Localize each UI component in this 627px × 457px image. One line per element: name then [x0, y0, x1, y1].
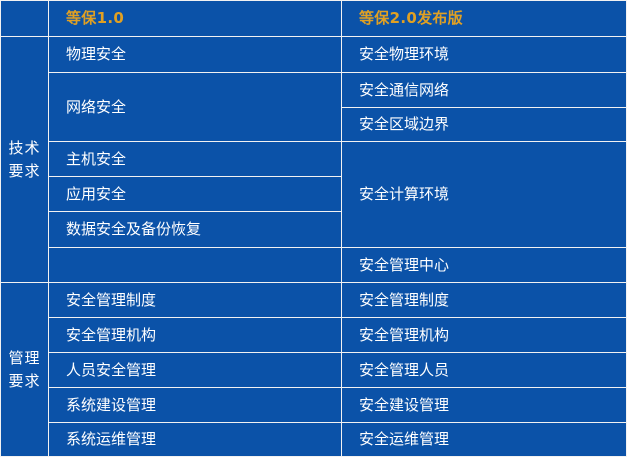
left-item-system-ops-mgmt: 系统运维管理 [49, 423, 342, 457]
right-item-security-management-center-label: 安全管理中心 [359, 255, 449, 275]
comparison-table: 等保1.0 等保2.0发布版 技术 要求 物理安全 网络安全 主机安全 应用安全… [0, 0, 627, 457]
right-item-secure-computing-environment: 安全计算环境 [342, 142, 627, 248]
left-item-system-ops-mgmt-label: 系统运维管理 [66, 429, 156, 449]
right-item-secure-computing-environment-label: 安全计算环境 [359, 184, 449, 204]
right-item-security-mgmt-system: 安全管理制度 [342, 283, 627, 318]
right-item-security-mgmt-organization: 安全管理机构 [342, 318, 627, 353]
column-header-dengbao-2-label: 等保2.0发布版 [359, 8, 463, 28]
right-item-secure-communication-network-label: 安全通信网络 [359, 80, 449, 100]
right-item-secure-physical-environment: 安全物理环境 [342, 37, 627, 73]
section-label-management-line1: 管理 [8, 347, 40, 370]
table-corner-cell [0, 0, 49, 37]
column-header-dengbao-1-label: 等保1.0 [66, 8, 124, 28]
section-label-management: 管理 要求 [0, 283, 49, 457]
left-item-placeholder-empty [49, 248, 342, 283]
left-item-security-mgmt-organization-label: 安全管理机构 [66, 325, 156, 345]
left-item-security-mgmt-organization: 安全管理机构 [49, 318, 342, 353]
left-item-physical-security-label: 物理安全 [66, 44, 126, 64]
left-item-personnel-security-mgmt-label: 人员安全管理 [66, 360, 156, 380]
left-item-data-security-backup-label: 数据安全及备份恢复 [66, 219, 201, 239]
right-item-security-mgmt-organization-label: 安全管理机构 [359, 325, 449, 345]
column-header-dengbao-1: 等保1.0 [49, 0, 342, 37]
right-item-security-mgmt-system-label: 安全管理制度 [359, 290, 449, 310]
right-item-security-construction-mgmt: 安全建设管理 [342, 388, 627, 423]
left-item-personnel-security-mgmt: 人员安全管理 [49, 353, 342, 388]
left-item-host-security-label: 主机安全 [66, 149, 126, 169]
right-item-security-mgmt-personnel-label: 安全管理人员 [359, 360, 449, 380]
left-item-network-security-label: 网络安全 [66, 97, 126, 117]
section-label-management-line2: 要求 [8, 370, 40, 393]
right-item-security-construction-mgmt-label: 安全建设管理 [359, 395, 449, 415]
column-header-dengbao-2: 等保2.0发布版 [342, 0, 627, 37]
left-item-system-construction-mgmt-label: 系统建设管理 [66, 395, 156, 415]
left-item-physical-security: 物理安全 [49, 37, 342, 73]
left-item-system-construction-mgmt: 系统建设管理 [49, 388, 342, 423]
right-item-secure-physical-environment-label: 安全物理环境 [359, 44, 449, 64]
left-item-data-security-backup: 数据安全及备份恢复 [49, 212, 342, 248]
left-item-host-security: 主机安全 [49, 142, 342, 177]
right-item-secure-area-boundary-label: 安全区域边界 [359, 114, 449, 134]
right-item-secure-communication-network: 安全通信网络 [342, 73, 627, 108]
left-item-application-security-label: 应用安全 [66, 184, 126, 204]
right-item-security-mgmt-personnel: 安全管理人员 [342, 353, 627, 388]
right-item-security-ops-mgmt-label: 安全运维管理 [359, 429, 449, 449]
left-item-network-security: 网络安全 [49, 73, 342, 142]
section-label-technical: 技术 要求 [0, 37, 49, 283]
right-item-security-ops-mgmt: 安全运维管理 [342, 423, 627, 457]
right-item-security-management-center: 安全管理中心 [342, 248, 627, 283]
section-label-technical-line1: 技术 [8, 137, 40, 160]
left-item-security-mgmt-system: 安全管理制度 [49, 283, 342, 318]
left-item-application-security: 应用安全 [49, 177, 342, 212]
left-item-security-mgmt-system-label: 安全管理制度 [66, 290, 156, 310]
right-item-secure-area-boundary: 安全区域边界 [342, 108, 627, 142]
section-label-technical-line2: 要求 [8, 160, 40, 183]
